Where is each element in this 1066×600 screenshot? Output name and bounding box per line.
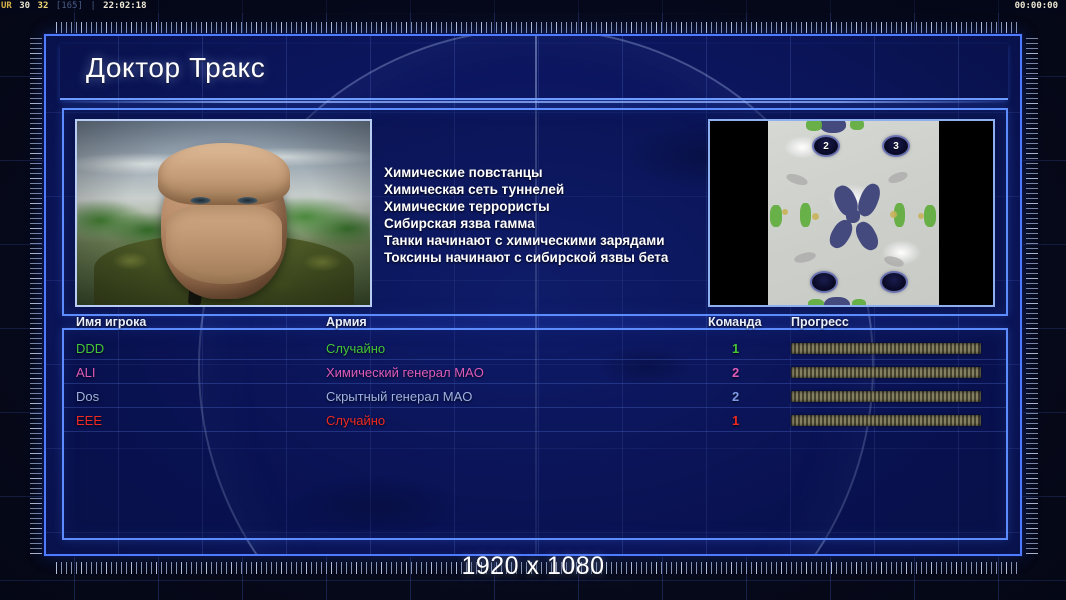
player-army[interactable]: Случайно <box>326 341 385 356</box>
status-label: UR <box>0 1 13 11</box>
table-row[interactable]: ALI Химический генерал MAO 2 <box>64 360 1006 384</box>
portrait-vignette <box>77 121 370 305</box>
description-line: Химические террористы <box>384 198 714 215</box>
lobby-panel: Доктор Тракс Химические повстанцы Химиче… <box>44 34 1022 556</box>
description-line: Химическая сеть туннелей <box>384 181 714 198</box>
player-army[interactable]: Случайно <box>326 413 385 428</box>
description-line: Химические повстанцы <box>384 164 714 181</box>
game-lobby-screen: UR 30 32 [165] | 22:02:18 00:00:00 Докто… <box>0 0 1066 600</box>
faction-description-list: Химические повстанцы Химическая сеть тун… <box>384 164 714 266</box>
player-progress-bar <box>791 391 981 402</box>
ruler-top <box>56 22 1018 34</box>
status-right-clock: 00:00:00 <box>1015 0 1058 13</box>
player-list-header: Имя игрока Армия Команда Прогресс <box>64 310 1006 330</box>
column-header-army: Армия <box>326 315 367 329</box>
map-terrain: 2 3 <box>768 121 939 307</box>
description-line: Токсины начинают с сибирской язвы бета <box>384 249 714 266</box>
title-bar: Доктор Тракс <box>60 44 1008 100</box>
resolution-label: 1920 x 1080 <box>0 552 1066 581</box>
map-preview[interactable]: 2 3 <box>708 119 995 307</box>
commander-portrait <box>75 119 372 307</box>
player-progress-bar <box>791 367 981 378</box>
page-title: Доктор Тракс <box>86 52 265 84</box>
column-header-team: Команда <box>708 315 762 329</box>
player-progress-bar <box>791 343 981 354</box>
player-team[interactable]: 2 <box>732 365 739 380</box>
player-team[interactable]: 2 <box>732 389 739 404</box>
player-progress-bar <box>791 415 981 426</box>
status-bracket: [165] <box>55 1 84 11</box>
player-army[interactable]: Скрытный генерал MAO <box>326 389 472 404</box>
faction-info-panel: Химические повстанцы Химическая сеть тун… <box>62 108 1008 316</box>
map-start-position[interactable]: 2 <box>814 137 838 155</box>
player-team[interactable]: 1 <box>732 413 739 428</box>
map-start-position[interactable] <box>812 273 836 291</box>
status-value-2: 32 <box>37 1 50 11</box>
status-pipe: | <box>89 1 96 11</box>
table-row[interactable]: Dos Скрытный генерал MAO 2 <box>64 384 1006 408</box>
column-header-progress: Прогресс <box>791 315 849 329</box>
player-name: DDD <box>76 341 104 356</box>
player-army[interactable]: Химический генерал MAO <box>326 365 484 380</box>
player-name: EEE <box>76 413 102 428</box>
map-start-position[interactable] <box>882 273 906 291</box>
description-line: Танки начинают с химическими зарядами <box>384 232 714 249</box>
player-name: Dos <box>76 389 99 404</box>
ruler-right <box>1026 34 1038 554</box>
player-rows: DDD Случайно 1 ALI Химический генерал MA… <box>64 336 1006 432</box>
player-team[interactable]: 1 <box>732 341 739 356</box>
debug-status-bar: UR 30 32 [165] | 22:02:18 00:00:00 <box>0 0 1066 13</box>
table-row[interactable]: DDD Случайно 1 <box>64 336 1006 360</box>
player-name: ALI <box>76 365 96 380</box>
row-divider <box>64 431 1006 432</box>
ruler-left <box>30 34 42 554</box>
status-clock: 22:02:18 <box>102 1 147 11</box>
map-start-position[interactable]: 3 <box>884 137 908 155</box>
column-header-name: Имя игрока <box>76 315 146 329</box>
description-line: Сибирская язва гамма <box>384 215 714 232</box>
table-row[interactable]: EEE Случайно 1 <box>64 408 1006 432</box>
player-list-panel: Имя игрока Армия Команда Прогресс DDD Сл… <box>62 328 1008 540</box>
status-value-1: 30 <box>18 1 31 11</box>
